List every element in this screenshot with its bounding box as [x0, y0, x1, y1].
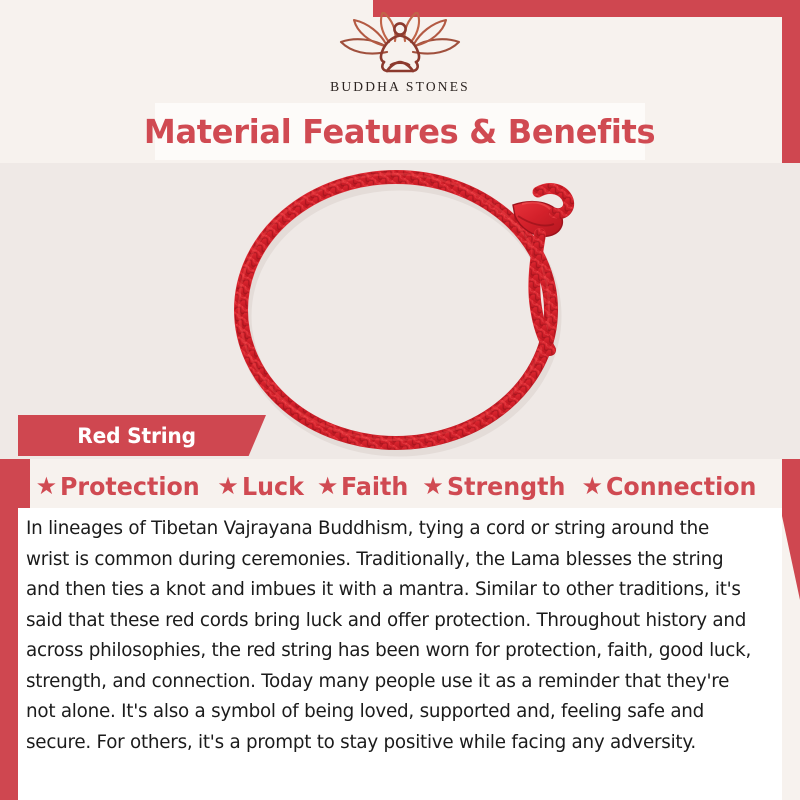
star-icon: ★ [36, 474, 58, 498]
benefit-item-faith: ★ Faith [312, 472, 417, 501]
star-icon: ★ [217, 474, 239, 498]
brand-name: BUDDHA STONES [330, 79, 470, 95]
description-text: In lineages of Tibetan Vajrayana Buddhis… [26, 514, 753, 758]
star-icon: ★ [581, 474, 603, 498]
benefit-item-luck: ★ Luck [212, 472, 312, 501]
title-banner: Material Features & Benefits [155, 103, 645, 160]
description-panel: In lineages of Tibetan Vajrayana Buddhis… [18, 508, 782, 800]
benefit-label: Protection [60, 472, 200, 501]
benefit-label: Faith [341, 472, 408, 501]
star-icon: ★ [317, 474, 339, 498]
benefit-label: Strength [447, 472, 565, 501]
product-name-ribbon: Red String [18, 415, 266, 456]
page-title: Material Features & Benefits [144, 112, 655, 151]
benefit-label: Luck [242, 472, 304, 501]
benefit-item-strength: ★ Strength [417, 472, 576, 501]
benefit-label: Connection [606, 472, 756, 501]
infographic-canvas: BUDDHA STONES Material Features & Benefi… [0, 0, 800, 800]
red-string-bracelet-image [188, 163, 618, 458]
benefits-list: ★ Protection ★ Luck ★ Faith ★ Strength ★… [0, 464, 800, 508]
lotus-meditation-icon [325, 12, 475, 78]
brand-header: BUDDHA STONES [0, 0, 800, 103]
product-name-label: Red String [22, 424, 196, 448]
product-photo [0, 163, 800, 459]
benefit-item-protection: ★ Protection [31, 472, 213, 501]
benefit-item-connection: ★ Connection [576, 472, 769, 501]
star-icon: ★ [422, 474, 444, 498]
